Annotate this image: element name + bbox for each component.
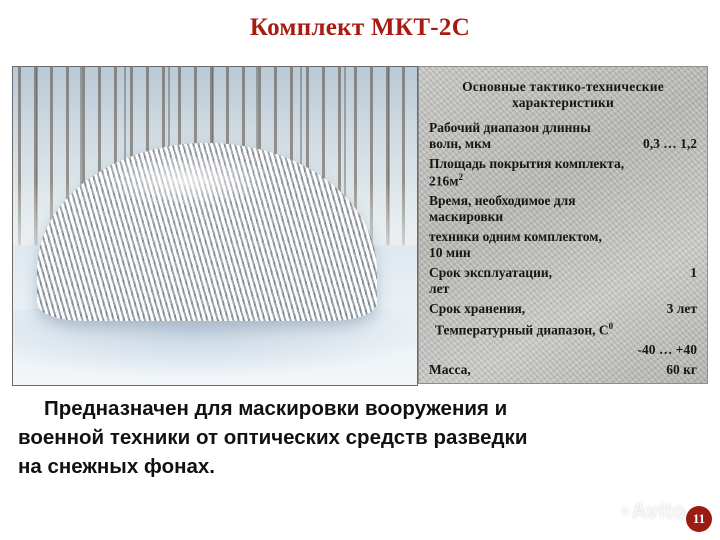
spec-label: Масса,	[429, 362, 471, 377]
spec-row-coverage-area: Площадь покрытия комплекта, 216м2	[429, 156, 697, 189]
spec-row-service-life: Срок эксплуатации, 1 лет	[429, 265, 697, 297]
spec-label: техники одним комплектом,	[429, 229, 602, 244]
spec-row-wavelength: Рабочий диапазон длинны волн, мкм 0,3 … …	[429, 120, 697, 152]
snow-camouflage-net-photo	[12, 66, 418, 386]
spec-value: 60 кг	[666, 362, 697, 378]
spec-value: 3 лет	[667, 301, 697, 317]
spec-value: 0,3 … 1,2	[643, 136, 697, 152]
spec-label: Температурный диапазон, С	[435, 322, 609, 337]
page-title: Комплект МКТ-2С	[0, 14, 720, 42]
slide: Комплект МКТ-2С Основные тактико-техниче…	[0, 0, 720, 540]
spec-label-2: маскировки	[429, 209, 503, 224]
page-number-badge: 11	[686, 506, 712, 532]
spec-label-2: волн, мкм	[429, 136, 491, 151]
spec-label-2: лет	[429, 281, 449, 296]
spec-label-2: 216м	[429, 173, 458, 188]
spec-row-masking-time-cont: техники одним комплектом, 10 мин	[429, 229, 697, 261]
spec-row-temperature-value: -40 … +40	[429, 342, 697, 358]
spec-row-masking-time: Время, необходимое для маскировки	[429, 193, 697, 225]
spec-row-mass: Масса, 60 кг	[429, 362, 697, 378]
specifications-heading-line2: характеристики	[429, 95, 697, 111]
spec-label-2: 10 мин	[429, 245, 471, 260]
specifications-heading: Основные тактико-технические характерист…	[429, 79, 697, 110]
spec-superscript: 2	[458, 172, 463, 182]
watermark-text: Avito	[632, 500, 686, 523]
specifications-panel: Основные тактико-технические характерист…	[418, 66, 708, 384]
description-line-1: Предназначен для маскировки вооружения и	[18, 394, 708, 423]
spec-row-storage-life: Срок хранения, 3 лет	[429, 301, 697, 317]
spec-value: 1	[690, 265, 697, 281]
spec-row-temperature-range: Температурный диапазон, С0	[429, 321, 697, 338]
description-line-3: на снежных фонах.	[18, 452, 708, 481]
spec-label: Время, необходимое для	[429, 193, 576, 208]
description-text: Предназначен для маскировки вооружения и…	[12, 394, 708, 481]
spec-superscript: 0	[609, 321, 614, 331]
watermark-mark-icon: ⌖	[621, 503, 630, 520]
spec-label: Рабочий диапазон длинны	[429, 120, 591, 135]
avito-watermark: ⌖Avito	[621, 500, 686, 524]
photo-mound-highlight	[98, 154, 274, 207]
spec-label: Срок эксплуатации,	[429, 265, 552, 280]
specifications-heading-line1: Основные тактико-технические	[429, 79, 697, 95]
spec-value: -40 … +40	[638, 342, 697, 357]
description-line-2: военной техники от оптических средств ра…	[18, 423, 708, 452]
spec-label: Площадь покрытия комплекта,	[429, 156, 624, 171]
spec-label: Срок хранения,	[429, 301, 525, 316]
